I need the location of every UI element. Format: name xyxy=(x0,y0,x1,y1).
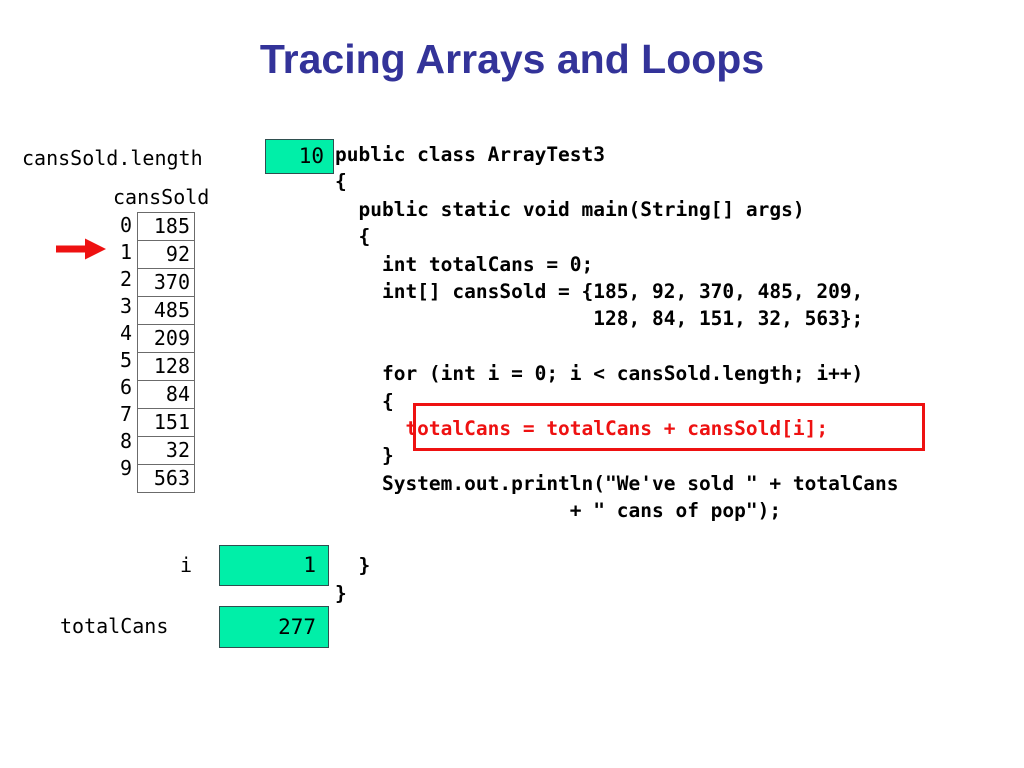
variable-totalcans-label: totalCans xyxy=(60,616,168,636)
table-row: 563 xyxy=(138,465,195,493)
code-line-highlighted: totalCans = totalCans + cansSold[i]; xyxy=(335,417,828,440)
array-index: 2 xyxy=(114,266,132,293)
table-row: 209 xyxy=(138,325,195,353)
cans-sold-array-table: 185 92 370 485 209 128 84 151 32 563 xyxy=(137,212,195,493)
array-index: 3 xyxy=(114,293,132,320)
java-source-listing: public class ArrayTest3 { public static … xyxy=(335,141,899,607)
array-cell: 84 xyxy=(138,381,195,409)
array-index: 5 xyxy=(114,347,132,374)
code-line: int totalCans = 0; xyxy=(335,253,593,276)
code-line: { xyxy=(335,170,347,193)
cans-sold-array-label: cansSold xyxy=(113,187,209,207)
array-cell: 92 xyxy=(138,241,195,269)
table-row: 32 xyxy=(138,437,195,465)
variable-i-label: i xyxy=(180,555,192,575)
array-cell: 209 xyxy=(138,325,195,353)
array-cell: 185 xyxy=(138,213,195,241)
table-row: 485 xyxy=(138,297,195,325)
code-line: } xyxy=(335,582,347,605)
array-cell: 151 xyxy=(138,409,195,437)
current-index-arrow-icon xyxy=(56,238,106,260)
array-index: 9 xyxy=(114,455,132,482)
code-line: public static void main(String[] args) xyxy=(335,198,805,221)
page-title: Tracing Arrays and Loops xyxy=(0,36,1024,83)
array-index: 6 xyxy=(114,374,132,401)
code-line: { xyxy=(335,390,394,413)
code-line: } xyxy=(335,444,394,467)
code-line: 128, 84, 151, 32, 563}; xyxy=(335,307,863,330)
array-cell: 563 xyxy=(138,465,195,493)
array-cell: 485 xyxy=(138,297,195,325)
code-line: { xyxy=(335,225,370,248)
cans-sold-length-label: cansSold.length xyxy=(22,148,203,168)
code-line: for (int i = 0; i < cansSold.length; i++… xyxy=(335,362,863,385)
variable-i-value-box: 1 xyxy=(219,545,329,586)
array-index: 8 xyxy=(114,428,132,455)
array-index: 1 xyxy=(114,239,132,266)
code-line: System.out.println("We've sold " + total… xyxy=(335,472,899,495)
array-index: 0 xyxy=(114,212,132,239)
array-cell: 370 xyxy=(138,269,195,297)
table-row: 370 xyxy=(138,269,195,297)
table-row: 151 xyxy=(138,409,195,437)
table-row: 128 xyxy=(138,353,195,381)
array-cell: 128 xyxy=(138,353,195,381)
array-index: 7 xyxy=(114,401,132,428)
code-line: + " cans of pop"); xyxy=(335,499,781,522)
variable-totalcans-value-box: 277 xyxy=(219,606,329,648)
table-row: 185 xyxy=(138,213,195,241)
table-row: 84 xyxy=(138,381,195,409)
code-line: int[] cansSold = {185, 92, 370, 485, 209… xyxy=(335,280,863,303)
table-row: 92 xyxy=(138,241,195,269)
array-index: 4 xyxy=(114,320,132,347)
code-line: } xyxy=(335,554,370,577)
array-cell: 32 xyxy=(138,437,195,465)
cans-sold-length-value-box: 10 xyxy=(265,139,334,174)
code-line: public class ArrayTest3 xyxy=(335,143,605,166)
